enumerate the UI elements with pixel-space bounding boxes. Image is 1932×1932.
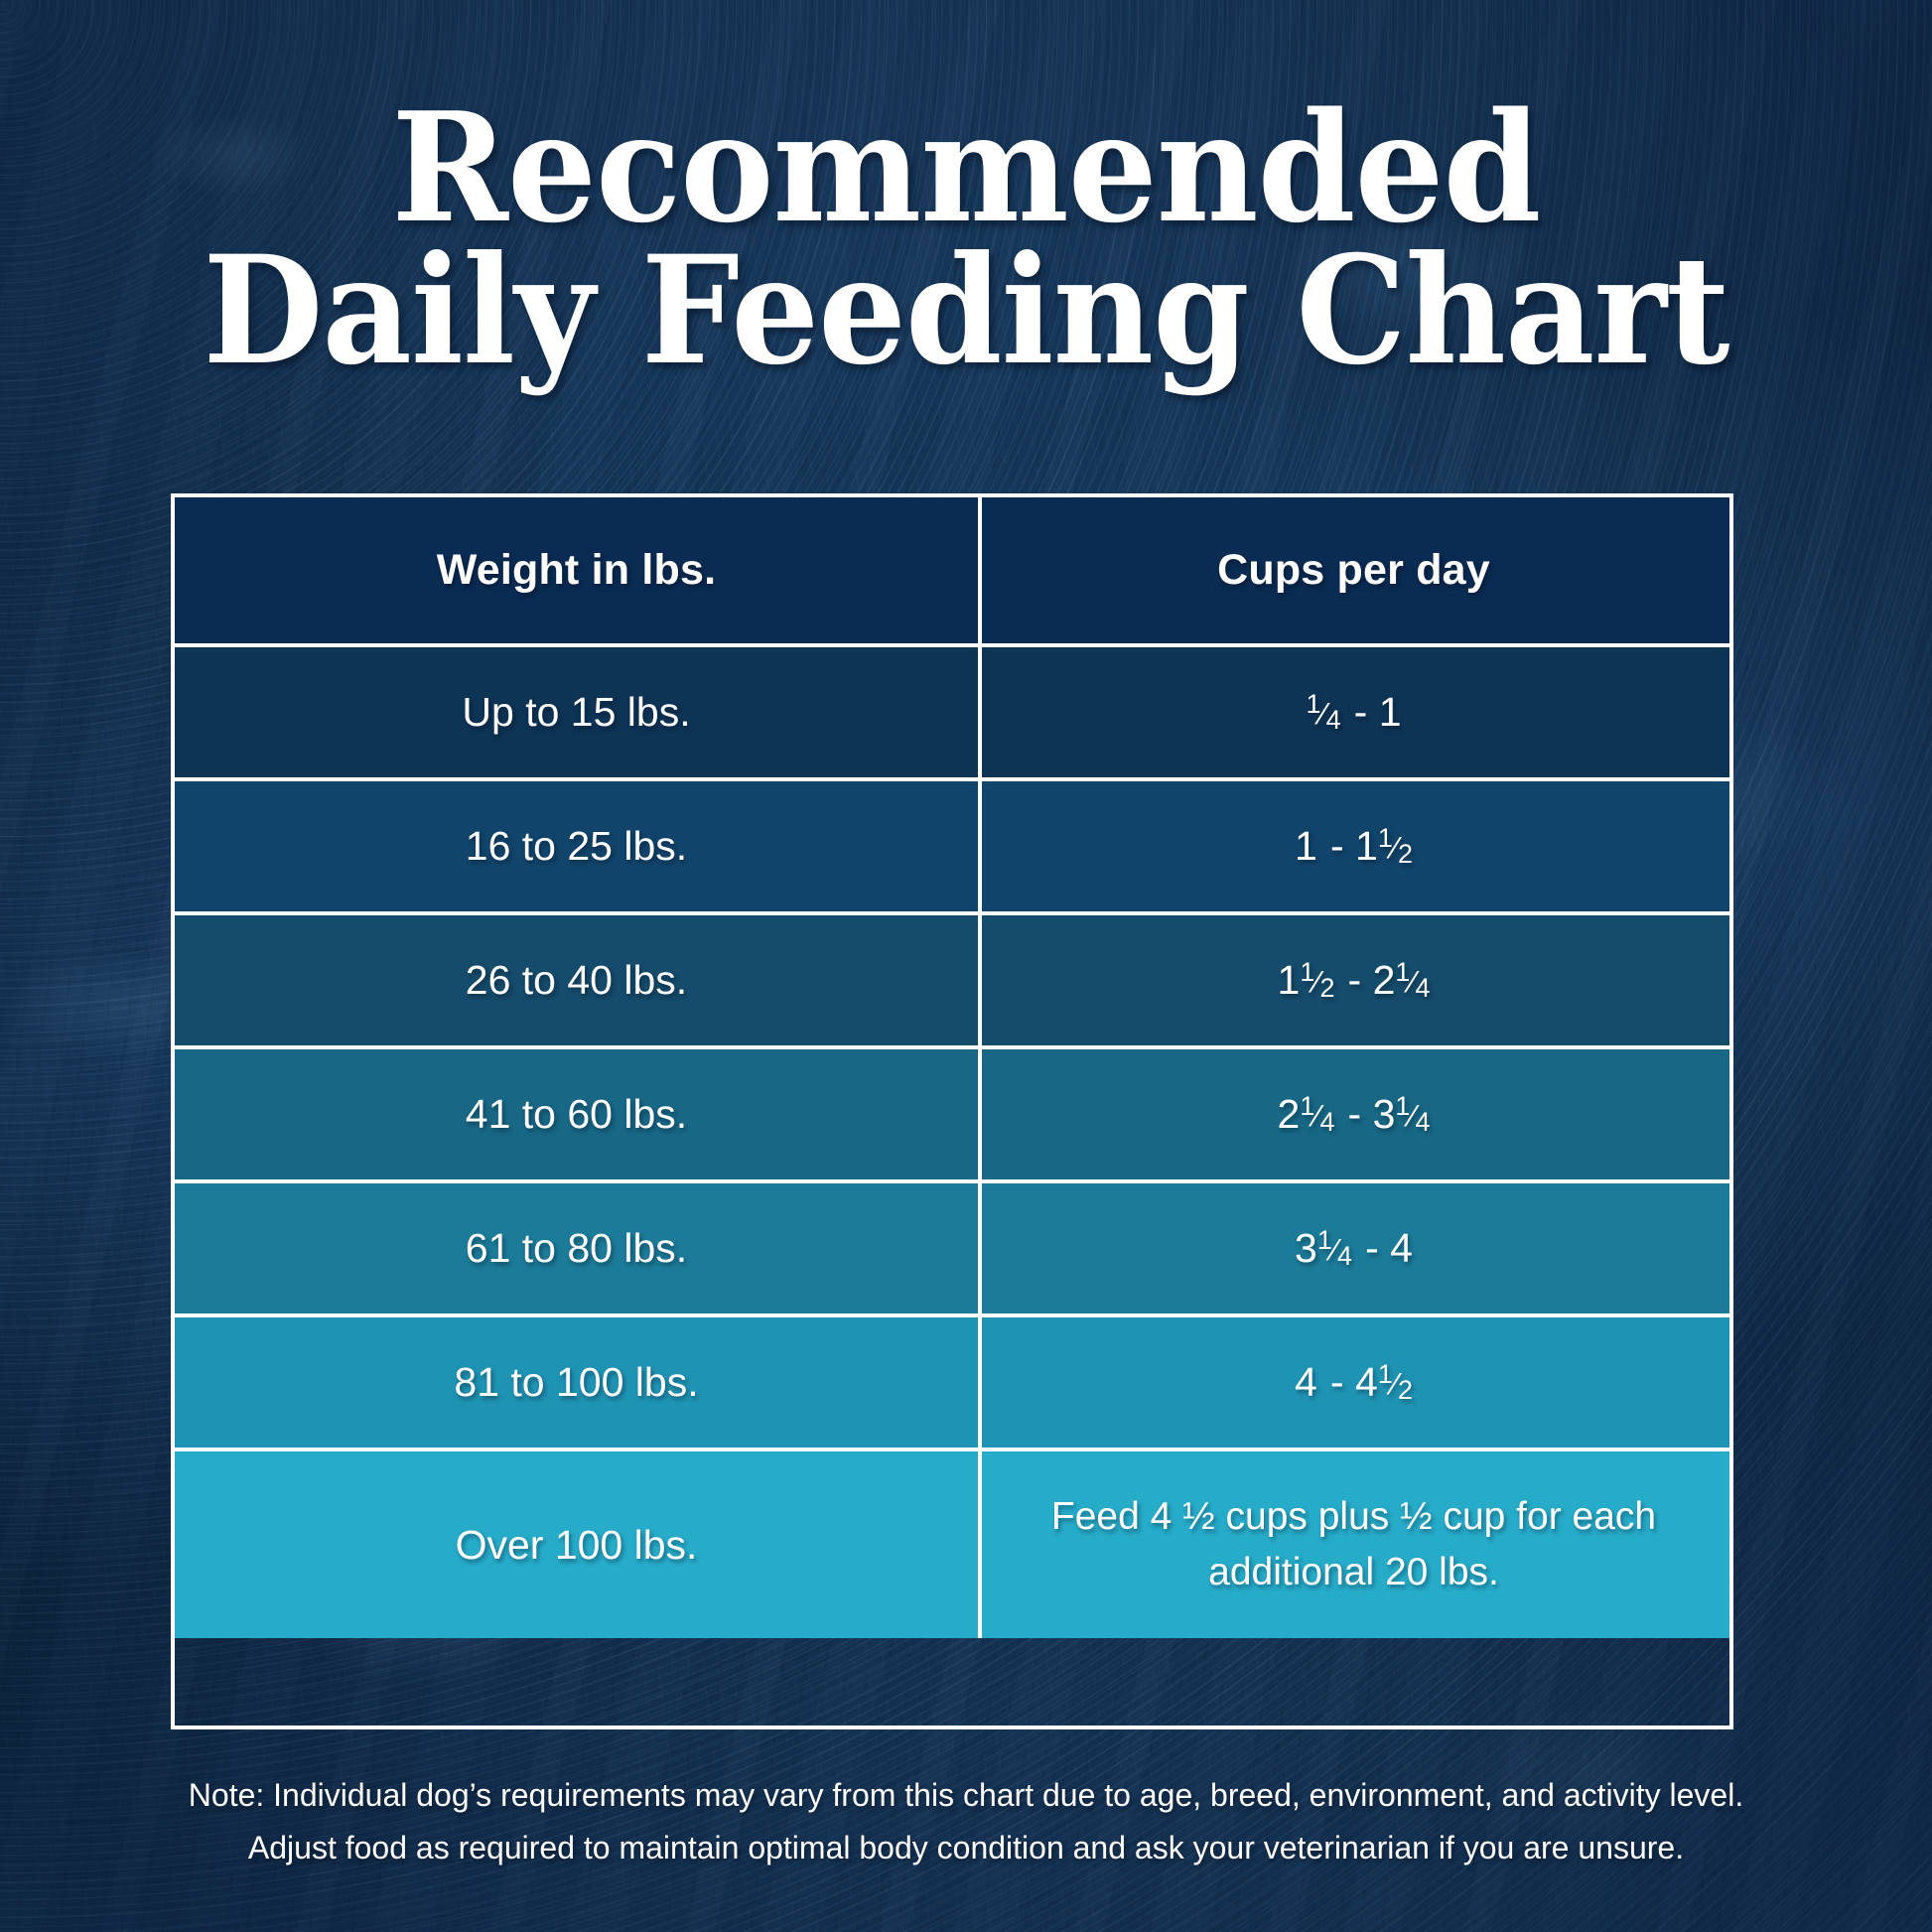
feeding-chart-page: Recommended Daily Feeding Chart Weight i…: [0, 0, 1932, 1932]
table-row: 26 to 40 lbs. 1 1⁄2- 2 1⁄4: [175, 911, 1729, 1045]
title-line-2: Daily Feeding Chart: [68, 239, 1864, 383]
title-line-1: Recommended: [68, 95, 1864, 239]
footer-note-line-2: Adjust food as required to maintain opti…: [0, 1822, 1932, 1874]
table-header-row: Weight in lbs. Cups per day: [175, 497, 1729, 643]
cell-weight-range: 16 to 25 lbs.: [175, 781, 978, 911]
table-row: Over 100 lbs. Feed 4 ½ cups plus ½ cup f…: [175, 1448, 1729, 1638]
column-header-cups: Cups per day: [978, 497, 1725, 643]
cell-cups-per-day: 1- 11⁄2: [978, 781, 1725, 911]
cell-cups-per-day: 3 1⁄4- 4: [978, 1183, 1725, 1313]
cell-weight-range: Over 100 lbs.: [175, 1451, 978, 1638]
cell-cups-per-day: 1⁄4- 1: [978, 647, 1725, 777]
cell-weight-range: Up to 15 lbs.: [175, 647, 978, 777]
footer-note: Note: Individual dog’s requirements may …: [0, 1769, 1932, 1874]
cell-cups-per-day: Feed 4 ½ cups plus ½ cup for each additi…: [978, 1451, 1725, 1638]
feeding-table: Weight in lbs. Cups per day Up to 15 lbs…: [171, 493, 1733, 1729]
table-row: 81 to 100 lbs. 4- 4 1⁄2: [175, 1313, 1729, 1448]
cell-weight-range: 81 to 100 lbs.: [175, 1317, 978, 1448]
cell-cups-per-day: 2 1⁄4- 3 1⁄4: [978, 1049, 1725, 1179]
cell-weight-range: 41 to 60 lbs.: [175, 1049, 978, 1179]
table-row: Up to 15 lbs. 1⁄4- 1: [175, 643, 1729, 777]
table-row: 61 to 80 lbs. 3 1⁄4- 4: [175, 1179, 1729, 1313]
column-header-weight: Weight in lbs.: [175, 497, 978, 643]
footer-note-line-1: Note: Individual dog’s requirements may …: [0, 1769, 1932, 1822]
cell-cups-per-day: 4- 4 1⁄2: [978, 1317, 1725, 1448]
cell-cups-per-day: 1 1⁄2- 2 1⁄4: [978, 915, 1725, 1045]
page-title: Recommended Daily Feeding Chart: [0, 95, 1932, 383]
table-row: 16 to 25 lbs. 1- 11⁄2: [175, 777, 1729, 911]
cell-weight-range: 26 to 40 lbs.: [175, 915, 978, 1045]
cell-weight-range: 61 to 80 lbs.: [175, 1183, 978, 1313]
table-row: 41 to 60 lbs. 2 1⁄4- 3 1⁄4: [175, 1045, 1729, 1179]
